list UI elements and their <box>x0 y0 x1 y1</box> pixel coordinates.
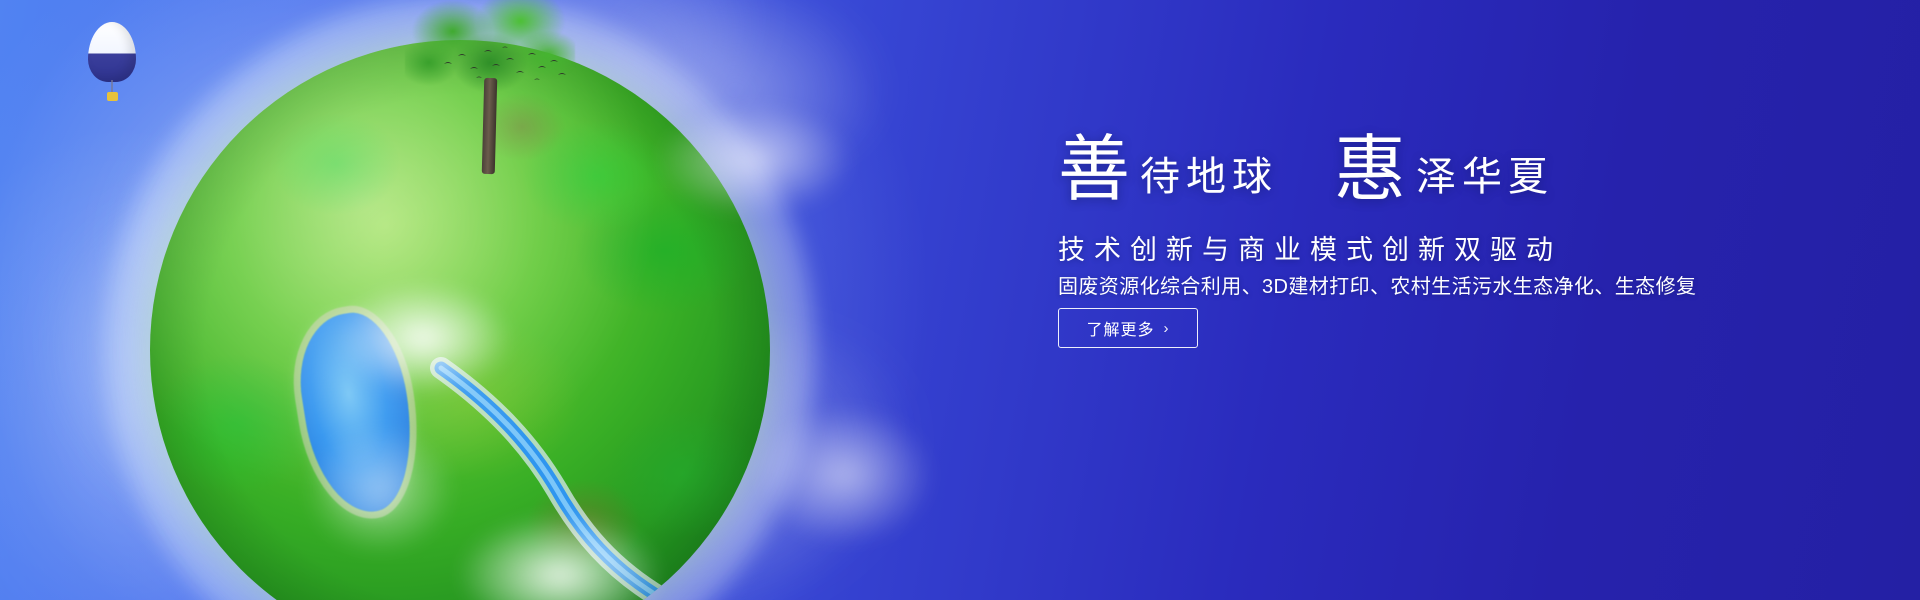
headline-part1-big: 善 <box>1058 130 1130 210</box>
mist-cloud <box>750 400 940 550</box>
cloud-wisp <box>0 140 475 599</box>
headline-part1-small: 待地球 <box>1140 154 1278 199</box>
balloon-envelope <box>88 22 136 82</box>
learn-more-button[interactable]: 了解更多 › <box>1058 308 1198 348</box>
tagline: 固废资源化综合利用、3D建材打印、农村生活污水生态净化、生态修复 <box>1058 270 1696 299</box>
balloon-basket <box>107 92 118 101</box>
mist-cloud <box>450 510 670 600</box>
hero-banner: 善待地球惠泽华夏 技术创新与商业模式创新双驱动 固废资源化综合利用、3D建材打印… <box>0 0 1920 600</box>
chevron-right-icon: › <box>1164 321 1170 336</box>
green-planet-image <box>150 40 770 600</box>
cloud-wisp <box>93 339 626 600</box>
page-title: 善待地球惠泽华夏 <box>1058 134 1554 206</box>
river-icon <box>435 362 735 600</box>
tree-trunk <box>482 78 498 174</box>
globe-atmosphere-glow <box>104 0 816 600</box>
learn-more-label: 了解更多 <box>1086 316 1154 340</box>
cloud-wisp <box>501 302 959 600</box>
cloud-wisp <box>600 0 900 170</box>
hot-air-balloon-icon <box>88 22 136 104</box>
subtitle: 技术创新与商业模式创新双驱动 <box>1058 228 1562 267</box>
bird-flock-icon <box>440 42 570 86</box>
mist-cloud <box>300 420 460 560</box>
mist-cloud <box>650 100 860 220</box>
banner-content: 善待地球惠泽华夏 技术创新与商业模式创新双驱动 固废资源化综合利用、3D建材打印… <box>1058 0 1818 600</box>
headline-part2-big: 惠 <box>1334 130 1406 210</box>
globe-sphere <box>150 40 770 600</box>
lake-icon <box>290 306 424 520</box>
headline-part2-small: 泽华夏 <box>1416 154 1554 199</box>
mist-cloud <box>328 278 518 398</box>
